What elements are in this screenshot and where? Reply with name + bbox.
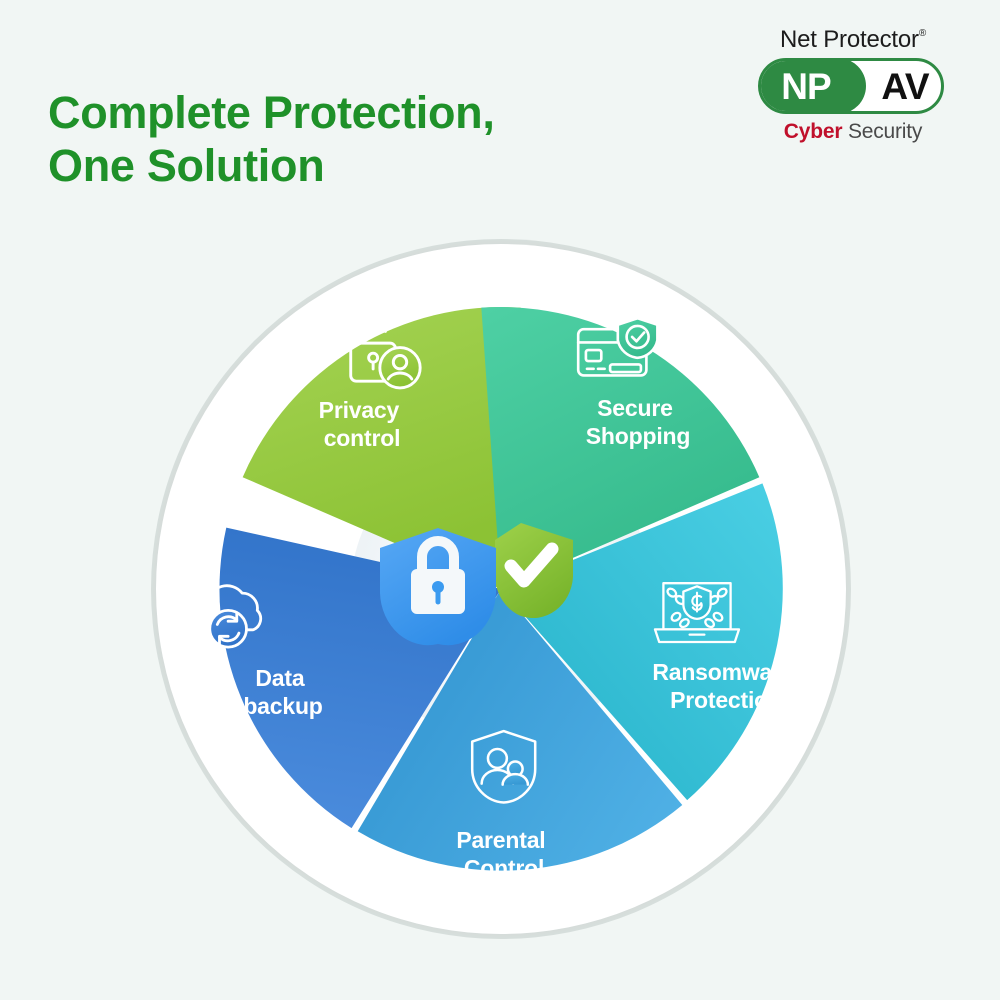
logo-mark-np-text: NP — [781, 68, 842, 105]
logo-brand-name: Net Protector® — [780, 28, 926, 52]
parental-control-label-line-1: Parental — [456, 827, 545, 853]
data-backup-label-line-1: Data — [255, 665, 304, 691]
privacy-control-label-line-1: Privacy — [319, 397, 400, 423]
logo-tagline: Cyber Security — [758, 121, 948, 142]
registered-trademark-icon: ® — [919, 28, 926, 39]
npav-logo: Net Protector® NP AV Cyber Security — [758, 28, 948, 142]
secure-shopping-label-line-1: Secure — [597, 395, 673, 421]
privacy-control-label-line-2: control — [324, 425, 401, 451]
logo-mark-np-block: NP — [758, 58, 866, 114]
logo-brand-name-text: Net Protector — [780, 26, 919, 53]
ransomware-protection-label-line-2: Protection — [670, 687, 782, 713]
page-title-line-1: Complete Protection, — [48, 86, 648, 139]
secure-shopping-label-line-2: Shopping — [586, 423, 690, 449]
page-title-line-2: One Solution — [48, 139, 648, 192]
parental-control-label-line-2: Control — [464, 855, 544, 881]
logo-mark: NP AV — [758, 58, 944, 114]
data-backup-label-line-2: backup — [243, 693, 322, 719]
page-title: Complete Protection, One Solution — [48, 86, 648, 192]
ransomware-protection-label-line-1: Ransomware — [652, 659, 793, 685]
logo-tagline-cyber: Cyber — [784, 120, 843, 143]
protection-wheel: Privacy control Secure Shopping — [148, 236, 854, 942]
logo-tagline-security: Security — [842, 120, 922, 143]
logo-mark-av-text: AV — [881, 61, 929, 111]
